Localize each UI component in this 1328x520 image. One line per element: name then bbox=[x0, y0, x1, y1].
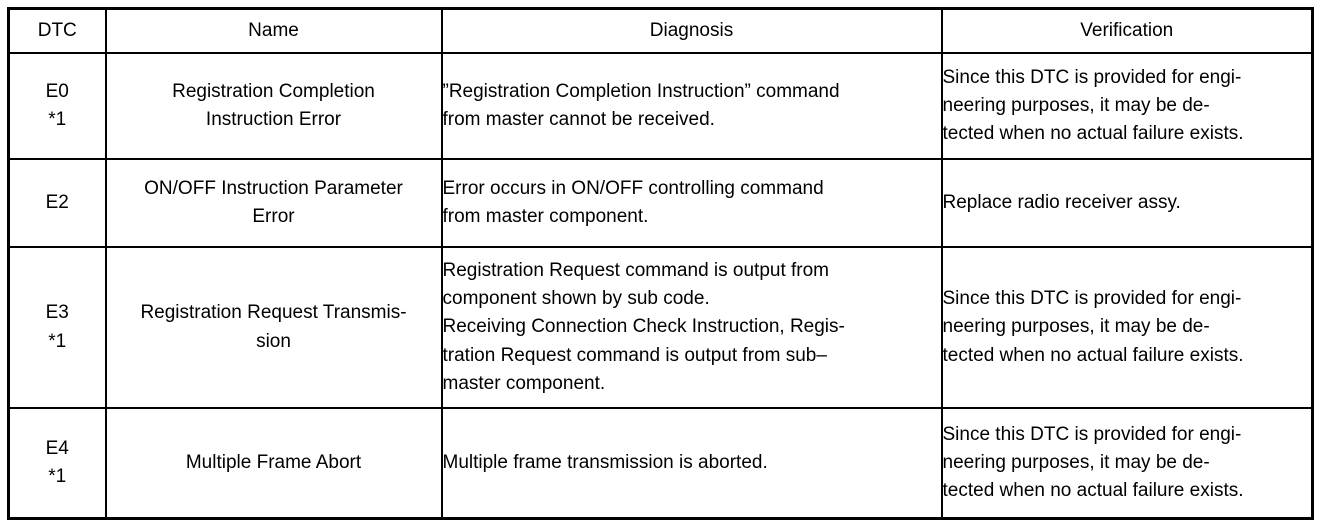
text-line: from master cannot be received. bbox=[443, 106, 941, 134]
text-line: Instruction Error bbox=[107, 106, 441, 134]
cell-dtc: E4 *1 bbox=[9, 408, 106, 519]
text-line: ”Registration Completion Instruction” co… bbox=[443, 78, 941, 106]
text-line: neering purposes, it may be de- bbox=[943, 92, 1312, 120]
cell-diagnosis: Error occurs in ON/OFF controlling comma… bbox=[442, 159, 942, 247]
cell-verification: Since this DTC is provided for engi- nee… bbox=[942, 247, 1313, 408]
cell-verification: Since this DTC is provided for engi- nee… bbox=[942, 408, 1313, 519]
text-line: Error occurs in ON/OFF controlling comma… bbox=[443, 175, 941, 203]
text-line: Receiving Connection Check Instruction, … bbox=[443, 313, 941, 341]
table-body: E0 *1 Registration Completion Instructio… bbox=[9, 53, 1313, 519]
cell-dtc: E3 *1 bbox=[9, 247, 106, 408]
cell-dtc: E0 *1 bbox=[9, 53, 106, 159]
table-header-row: DTC Name Diagnosis Verification bbox=[9, 9, 1313, 54]
dtc-code: E0 bbox=[10, 78, 105, 106]
text-line: Multiple Frame Abort bbox=[107, 449, 441, 477]
dtc-code: E3 bbox=[10, 299, 105, 327]
text-line: Registration Request Transmis- bbox=[107, 299, 441, 327]
cell-diagnosis: Registration Request command is output f… bbox=[442, 247, 942, 408]
table-row: E2 ON/OFF Instruction Parameter Error Er… bbox=[9, 159, 1313, 247]
cell-diagnosis: Multiple frame transmission is aborted. bbox=[442, 408, 942, 519]
text-line: master component. bbox=[443, 370, 941, 398]
table-row: E3 *1 Registration Request Transmis- sio… bbox=[9, 247, 1313, 408]
text-line: from master component. bbox=[443, 203, 941, 231]
text-line: neering purposes, it may be de- bbox=[943, 449, 1312, 477]
column-header-name: Name bbox=[106, 9, 442, 54]
cell-name: Registration Completion Instruction Erro… bbox=[106, 53, 442, 159]
table-row: E4 *1 Multiple Frame Abort Multiple fram… bbox=[9, 408, 1313, 519]
dtc-footnote-marker: *1 bbox=[10, 106, 105, 134]
text-line: Registration Request command is output f… bbox=[443, 257, 941, 285]
text-line: tected when no actual failure exists. bbox=[943, 477, 1312, 505]
cell-name: ON/OFF Instruction Parameter Error bbox=[106, 159, 442, 247]
cell-diagnosis: ”Registration Completion Instruction” co… bbox=[442, 53, 942, 159]
text-line: Since this DTC is provided for engi- bbox=[943, 421, 1312, 449]
text-line: Replace radio receiver assy. bbox=[943, 189, 1312, 217]
text-line: Error bbox=[107, 203, 441, 231]
text-line: Multiple frame transmission is aborted. bbox=[443, 449, 941, 477]
cell-name: Registration Request Transmis- sion bbox=[106, 247, 442, 408]
text-line: Registration Completion bbox=[107, 78, 441, 106]
text-line: tected when no actual failure exists. bbox=[943, 342, 1312, 370]
text-line: sion bbox=[107, 328, 441, 356]
text-line: tected when no actual failure exists. bbox=[943, 120, 1312, 148]
text-line: neering purposes, it may be de- bbox=[943, 313, 1312, 341]
column-header-verification: Verification bbox=[942, 9, 1313, 54]
text-line: tration Request command is output from s… bbox=[443, 342, 941, 370]
column-header-diagnosis: Diagnosis bbox=[442, 9, 942, 54]
dtc-footnote-marker: *1 bbox=[10, 463, 105, 491]
text-line: component shown by sub code. bbox=[443, 285, 941, 313]
cell-verification: Replace radio receiver assy. bbox=[942, 159, 1313, 247]
text-line: ON/OFF Instruction Parameter bbox=[107, 175, 441, 203]
column-header-dtc: DTC bbox=[9, 9, 106, 54]
table-header: DTC Name Diagnosis Verification bbox=[9, 9, 1313, 54]
cell-name: Multiple Frame Abort bbox=[106, 408, 442, 519]
page-root: DTC Name Diagnosis Verification E0 *1 Re… bbox=[0, 0, 1328, 514]
cell-dtc: E2 bbox=[9, 159, 106, 247]
dtc-code: E4 bbox=[10, 435, 105, 463]
dtc-diagnosis-table: DTC Name Diagnosis Verification E0 *1 Re… bbox=[7, 7, 1314, 520]
table-row: E0 *1 Registration Completion Instructio… bbox=[9, 53, 1313, 159]
text-line: Since this DTC is provided for engi- bbox=[943, 64, 1312, 92]
dtc-code: E2 bbox=[10, 189, 105, 217]
cell-verification: Since this DTC is provided for engi- nee… bbox=[942, 53, 1313, 159]
text-line: Since this DTC is provided for engi- bbox=[943, 285, 1312, 313]
dtc-footnote-marker: *1 bbox=[10, 328, 105, 356]
